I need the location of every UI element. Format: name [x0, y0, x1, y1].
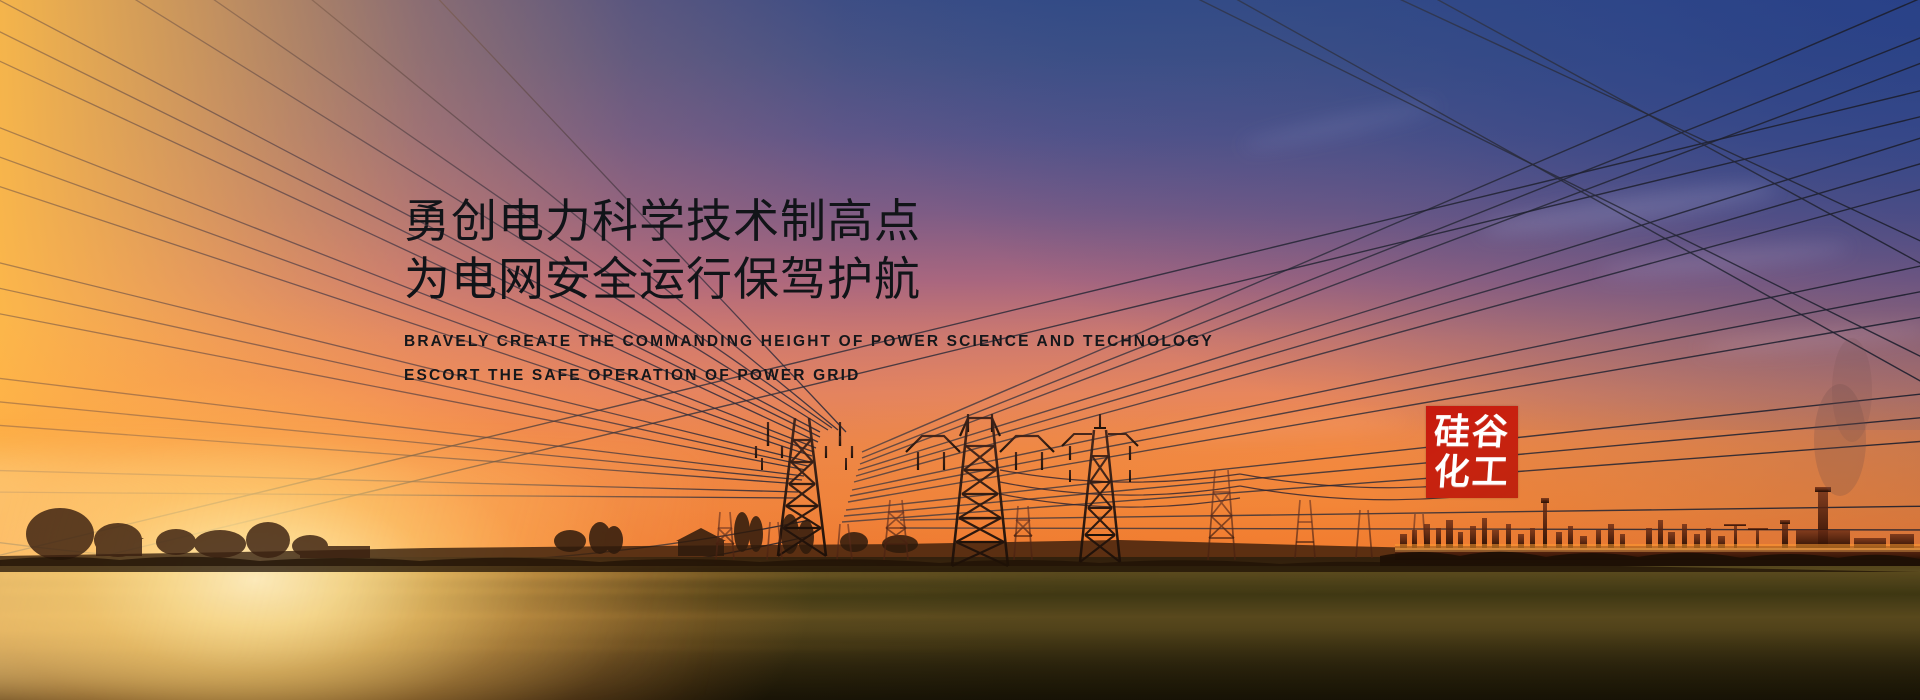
company-logo-seal[interactable]: 硅谷 化工: [1426, 406, 1518, 498]
field-furrow-1: [0, 560, 1920, 567]
headline-cn-line-1: 勇创电力科学技术制高点: [404, 192, 1464, 250]
field-vignette-bottom: [0, 630, 1920, 700]
field-furrow-3: [0, 588, 1920, 595]
field-furrow-2: [0, 572, 1920, 579]
logo-text-top: 硅谷: [1433, 412, 1512, 452]
headline-cn-line-2: 为电网安全运行保驾护航: [404, 250, 1464, 308]
banner-copy-block: 勇创电力科学技术制高点 为电网安全运行保驾护航 BRAVELY CREATE T…: [404, 192, 1464, 393]
subheadline-en-line-2: ESCORT THE SAFE OPERATION OF POWER GRID: [404, 359, 1464, 393]
hero-banner: 勇创电力科学技术制高点 为电网安全运行保驾护航 BRAVELY CREATE T…: [0, 0, 1920, 700]
logo-text-bottom: 化工: [1433, 452, 1512, 492]
subheadline-en-line-1: BRAVELY CREATE THE COMMANDING HEIGHT OF …: [404, 325, 1464, 359]
subheadline-en-block: BRAVELY CREATE THE COMMANDING HEIGHT OF …: [404, 325, 1464, 393]
field-furrow-4: [0, 612, 1920, 619]
